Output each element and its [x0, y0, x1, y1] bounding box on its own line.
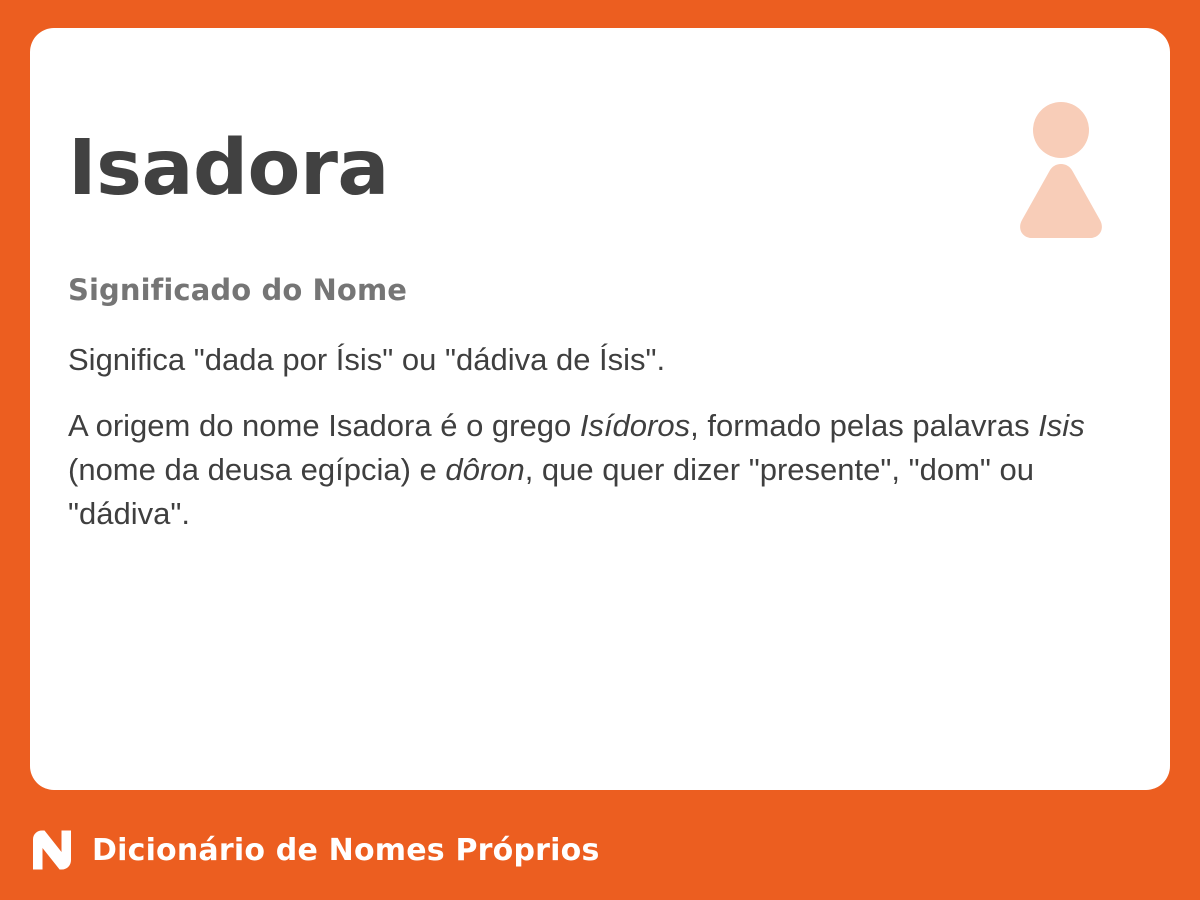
section-heading: Significado do Nome — [68, 273, 407, 307]
n-logo-icon — [30, 828, 74, 872]
card-content: Isadora Significado do Nome Significa "d… — [68, 62, 1132, 770]
meaning-body: Significa "dada por Ísis" ou "dádiva de … — [68, 338, 1128, 536]
plain-text: Significa "dada por Ísis" ou "dádiva de … — [68, 342, 665, 377]
paragraph-meaning: Significa "dada por Ísis" ou "dádiva de … — [68, 338, 1128, 382]
paragraph-origin: A origem do nome Isadora é o grego Isído… — [68, 404, 1128, 536]
plain-text: (nome da deusa egípcia) e — [68, 452, 445, 487]
page-title: Isadora — [68, 130, 389, 209]
footer-brand[interactable]: Dicionário de Nomes Próprios — [30, 822, 600, 878]
emphasis-text: Isídoros — [580, 408, 690, 443]
name-card: Isadora Significado do Nome Significa "d… — [30, 28, 1170, 790]
emphasis-text: dôron — [445, 452, 524, 487]
footer-brand-label: Dicionário de Nomes Próprios — [92, 833, 600, 868]
person-avatar-icon — [1018, 102, 1104, 238]
emphasis-text: Isis — [1038, 408, 1085, 443]
plain-text: A origem do nome Isadora é o grego — [68, 408, 580, 443]
plain-text: , formado pelas palavras — [690, 408, 1038, 443]
page-root: Isadora Significado do Nome Significa "d… — [0, 0, 1200, 900]
